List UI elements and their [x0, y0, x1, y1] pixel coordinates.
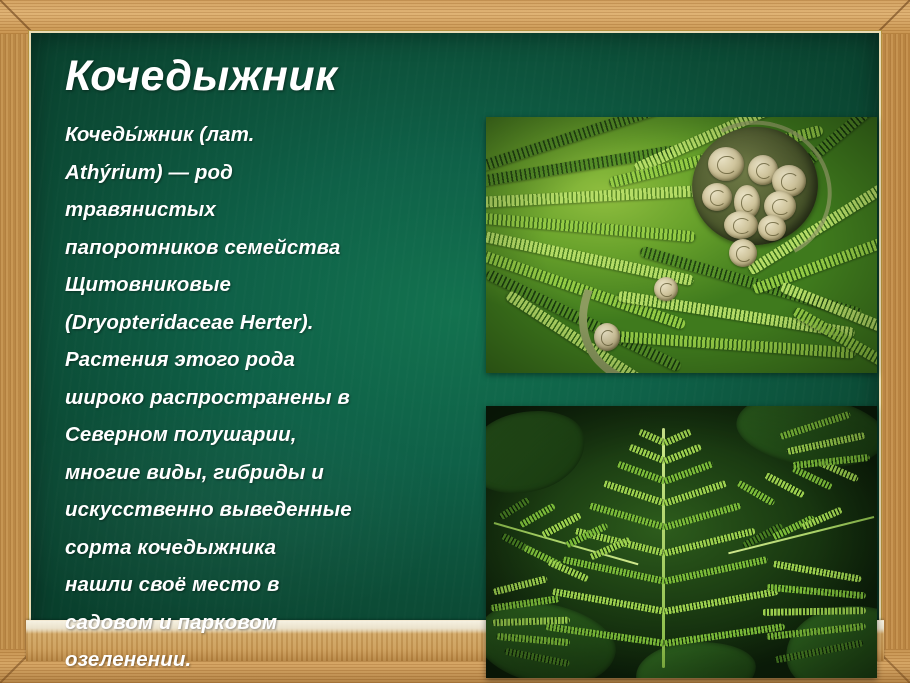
body-line: сорта кочедыжника — [65, 529, 457, 567]
fiddlehead-artwork — [486, 117, 877, 373]
body-line: широко распространены в — [65, 379, 457, 417]
body-line: многие виды, гибриды и — [65, 454, 457, 492]
text-column: Кочедыжник Кочеды́жник (лат. Athýrium) —… — [65, 55, 457, 679]
body-line: папоротников семейства — [65, 229, 457, 267]
body-line: травянистых — [65, 191, 457, 229]
fiddlehead-spiral — [594, 323, 620, 351]
fiddlehead-spiral — [702, 183, 732, 211]
body-line: озеленении. — [65, 641, 457, 679]
fiddlehead-spiral — [708, 147, 744, 181]
body-line: Кочеды́жник (лат. — [65, 116, 457, 154]
fern-fiddlehead-photo — [486, 117, 877, 373]
body-line: Athýrium) — род — [65, 154, 457, 192]
frame-rail-top — [0, 0, 910, 34]
body-line: Растения этого рода — [65, 341, 457, 379]
body-line: садовом и парковом — [65, 604, 457, 642]
body-line: Щитовниковые — [65, 266, 457, 304]
chalkboard-surface: Кочедыжник Кочеды́жник (лат. Athýrium) —… — [31, 33, 879, 650]
fiddlehead-spiral — [729, 239, 757, 267]
body-line: Северном полушарии, — [65, 416, 457, 454]
page-title: Кочедыжник — [65, 55, 457, 98]
body-line: нашли своё место в — [65, 566, 457, 604]
fern-fronds-photo — [486, 406, 877, 678]
body-line: (Dryopteridaceae Herter). — [65, 304, 457, 342]
slide-chalkboard: Кочедыжник Кочеды́жник (лат. Athýrium) —… — [0, 0, 910, 683]
body-line: искусственно выведенные — [65, 491, 457, 529]
body-paragraph: Кочеды́жник (лат. Athýrium) — род травян… — [65, 116, 457, 679]
fiddlehead-spiral — [654, 277, 678, 301]
fronds-artwork — [486, 406, 877, 678]
